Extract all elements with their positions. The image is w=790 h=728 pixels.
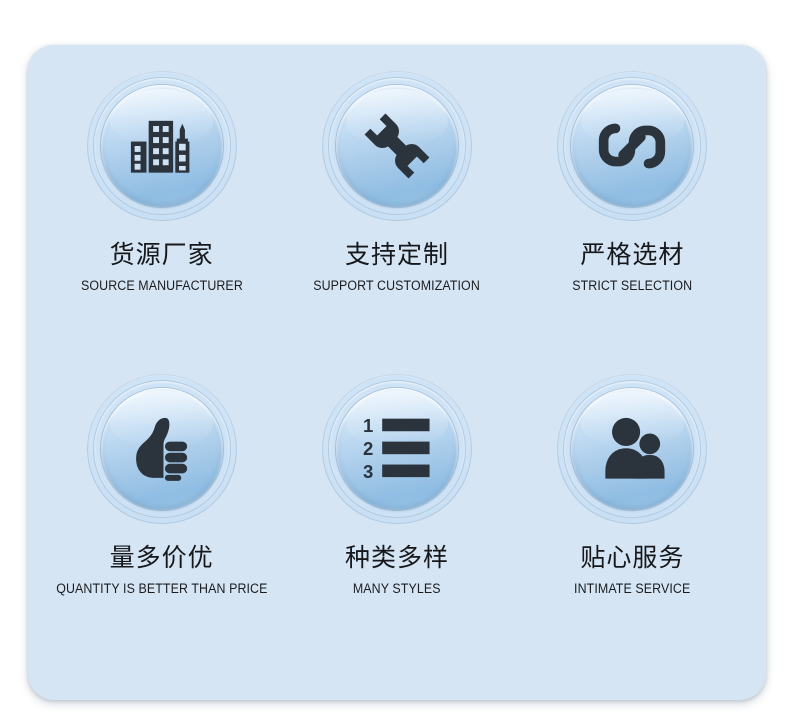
medallion-disc: 1 2 3 [336,388,458,510]
feature-title-en: MANY STYLES [353,582,441,596]
wrench-icon [360,109,434,183]
feature-title-zh: 严格选材 [580,243,684,268]
list-number-3: 3 [363,460,373,481]
feature-title-en: SUPPORT CUSTOMIZATION [314,279,481,293]
medallion-disc [571,85,693,207]
medallion-source-manufacturer [87,71,237,221]
medallion-intimate-service [557,374,707,524]
medallion-disc [101,85,223,207]
medallion-strict-selection [557,71,707,221]
medallion-disc [101,388,223,510]
medallion-disc [571,388,693,510]
medallion-disc [336,85,458,207]
feature-title-zh: 量多价优 [110,546,214,571]
features-grid: 货源厂家 SOURCE MANUFACTURER [28,45,766,700]
factory-buildings-icon [125,109,199,183]
features-panel-root: 货源厂家 SOURCE MANUFACTURER [0,0,790,728]
medallion-many-styles: 1 2 3 [322,374,472,524]
list-number-1: 1 [363,414,373,435]
feature-title-en: QUANTITY IS BETTER THAN PRICE [56,582,267,596]
thumbs-up-icon [125,412,199,486]
people-group-icon [595,412,669,486]
feature-item-intimate-service[interactable]: 贴心服务 INTIMATE SERVICE [515,374,750,677]
feature-title-en: STRICT SELECTION [572,279,692,293]
features-panel: 货源厂家 SOURCE MANUFACTURER [28,45,766,700]
feature-title-zh: 支持定制 [345,243,449,268]
numbered-list-icon: 1 2 3 [360,412,434,486]
medallion-support-customization [322,71,472,221]
feature-title-zh: 货源厂家 [110,243,214,268]
feature-item-source-manufacturer[interactable]: 货源厂家 SOURCE MANUFACTURER [44,71,279,374]
feature-item-quantity-better-than-price[interactable]: 量多价优 QUANTITY IS BETTER THAN PRICE [44,374,279,677]
feature-title-zh: 种类多样 [345,546,449,571]
feature-title-zh: 贴心服务 [580,546,684,571]
feature-item-strict-selection[interactable]: 严格选材 STRICT SELECTION [515,71,750,374]
chain-link-icon [595,109,669,183]
feature-item-support-customization[interactable]: 支持定制 SUPPORT CUSTOMIZATION [279,71,514,374]
list-number-2: 2 [363,437,373,458]
medallion-quantity-better-than-price [87,374,237,524]
feature-title-en: SOURCE MANUFACTURER [81,279,243,293]
feature-item-many-styles[interactable]: 1 2 3 [279,374,514,677]
feature-title-en: INTIMATE SERVICE [574,582,690,596]
